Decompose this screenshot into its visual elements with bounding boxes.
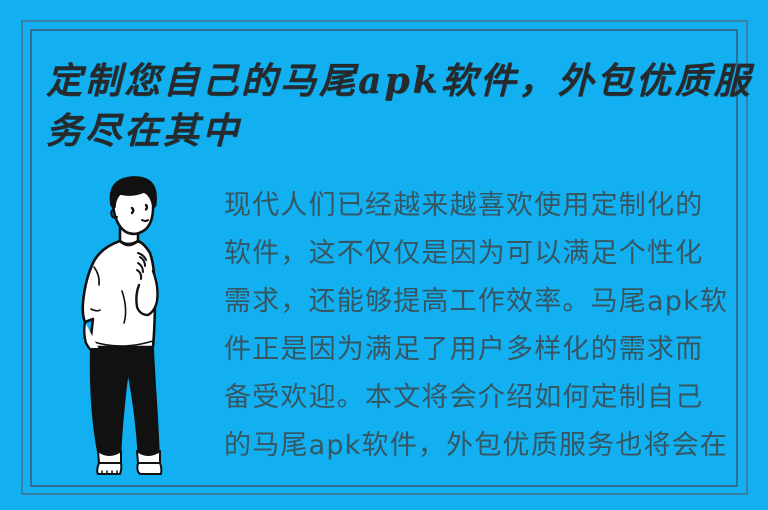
body-line: 件正是因为满足了用户多样化的需求而	[224, 326, 736, 374]
title-line-2: 务尽在其中	[46, 106, 736, 156]
body-line: 备受欢迎。本文将会介绍如何定制自己	[224, 374, 736, 422]
article-body: 现代人们已经越来越喜欢使用定制化的 软件，这不仅仅是因为可以满足个性化 需求，还…	[224, 182, 736, 482]
page-title: 定制您自己的马尾apk软件，外包优质服 务尽在其中	[46, 56, 736, 156]
article-banner-canvas: 定制您自己的马尾apk软件，外包优质服 务尽在其中	[0, 0, 768, 510]
body-line: 的马尾apk软件，外包优质服务也将会在	[224, 422, 736, 470]
body-line: 需求，还能够提高工作效率。马尾apk软	[224, 278, 736, 326]
person-illustration	[58, 175, 208, 475]
standing-man-icon	[58, 175, 208, 475]
body-line: 软件，这不仅仅是因为可以满足个性化	[224, 230, 736, 278]
title-line-1: 定制您自己的马尾apk软件，外包优质服	[46, 56, 736, 106]
body-line: 现代人们已经越来越喜欢使用定制化的	[224, 182, 736, 230]
